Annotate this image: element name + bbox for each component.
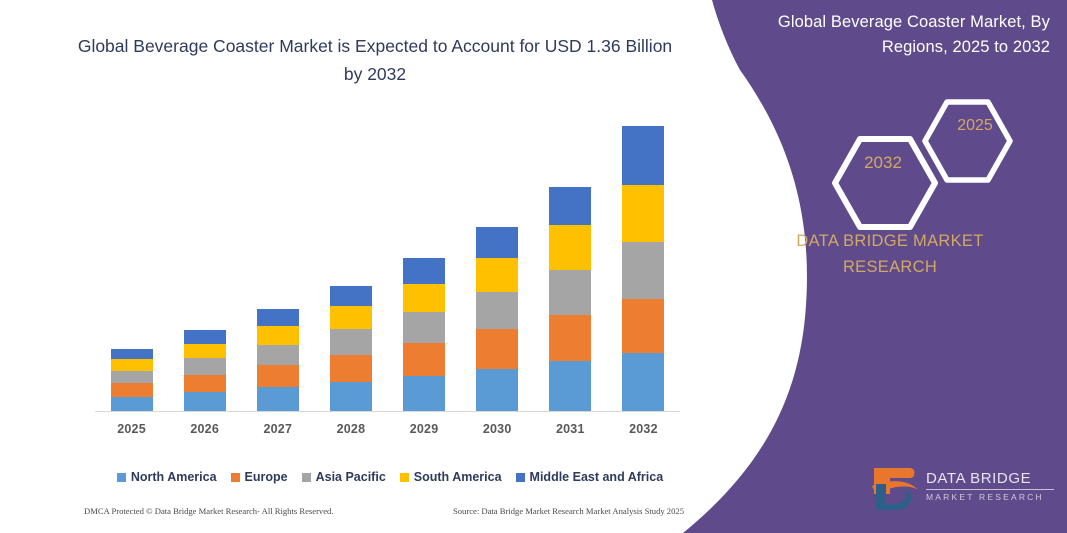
bar-segment bbox=[111, 359, 153, 370]
hexagon-2032-label: 2032 bbox=[838, 153, 928, 173]
bar-segment bbox=[184, 330, 226, 343]
stacked-bar bbox=[184, 330, 226, 411]
bar-segment bbox=[184, 358, 226, 375]
x-axis-label: 2030 bbox=[462, 422, 533, 444]
bar-segment bbox=[184, 344, 226, 359]
bar-segment bbox=[330, 382, 372, 411]
bar-segment bbox=[403, 312, 445, 343]
bar-segment bbox=[184, 392, 226, 411]
hexagon-group: 2032 2025 bbox=[820, 95, 1060, 205]
legend-label: North America bbox=[131, 470, 217, 484]
bar-segment bbox=[257, 309, 299, 326]
x-axis-label: 2028 bbox=[315, 422, 386, 444]
chart-plot-area bbox=[95, 100, 680, 412]
legend-swatch-icon bbox=[516, 473, 525, 482]
legend-item[interactable]: Asia Pacific bbox=[302, 470, 386, 484]
stacked-bar bbox=[476, 227, 518, 412]
bar-segment bbox=[403, 258, 445, 284]
bar-segment bbox=[476, 227, 518, 258]
stacked-bar bbox=[622, 126, 664, 411]
stacked-bar bbox=[257, 309, 299, 411]
legend-label: Europe bbox=[245, 470, 288, 484]
bar-column bbox=[169, 100, 240, 411]
bar-column bbox=[608, 100, 679, 411]
x-axis-label: 2029 bbox=[389, 422, 460, 444]
stacked-bar bbox=[403, 258, 445, 411]
legend-item[interactable]: Middle East and Africa bbox=[516, 470, 664, 484]
bar-segment bbox=[330, 306, 372, 329]
x-axis-labels: 20252026202720282029203020312032 bbox=[95, 422, 680, 444]
bar-segment bbox=[257, 387, 299, 411]
bar-segment bbox=[403, 376, 445, 411]
bar-segment bbox=[257, 345, 299, 366]
bar-segment bbox=[257, 365, 299, 387]
footer-copyright: DMCA Protected © Data Bridge Market Rese… bbox=[84, 506, 334, 516]
stacked-bar bbox=[330, 286, 372, 411]
bar-segment bbox=[549, 361, 591, 411]
bar-segment bbox=[622, 299, 664, 353]
bar-segment bbox=[330, 329, 372, 355]
bar-segment bbox=[549, 315, 591, 362]
logo-sub-text: MARKET RESEARCH bbox=[926, 492, 1066, 503]
bar-segment bbox=[476, 329, 518, 368]
data-bridge-b-logo-icon bbox=[870, 464, 922, 514]
bar-segment bbox=[403, 284, 445, 312]
x-axis-label: 2032 bbox=[608, 422, 679, 444]
x-axis-line bbox=[95, 411, 680, 412]
bar-segment bbox=[549, 187, 591, 225]
bar-segment bbox=[111, 349, 153, 359]
infographic-root: Global Beverage Coaster Market, By Regio… bbox=[0, 0, 1067, 533]
chart-legend: North AmericaEuropeAsia PacificSouth Ame… bbox=[95, 470, 685, 484]
hexagon-2025-icon bbox=[920, 97, 1015, 185]
footer: DMCA Protected © Data Bridge Market Rese… bbox=[84, 506, 684, 516]
bar-column bbox=[535, 100, 606, 411]
bar-column bbox=[389, 100, 460, 411]
bar-segment bbox=[111, 371, 153, 383]
x-axis-label: 2025 bbox=[96, 422, 167, 444]
legend-swatch-icon bbox=[302, 473, 311, 482]
bar-segment bbox=[476, 258, 518, 292]
legend-item[interactable]: Europe bbox=[231, 470, 288, 484]
bar-segment bbox=[622, 242, 664, 299]
bar-segment bbox=[403, 343, 445, 376]
bar-segment bbox=[549, 270, 591, 315]
chart-title: Global Beverage Coaster Market is Expect… bbox=[70, 32, 680, 88]
bar-column bbox=[96, 100, 167, 411]
bar-column bbox=[462, 100, 533, 411]
company-logo: DATA BRIDGE MARKET RESEARCH bbox=[870, 462, 1067, 518]
footer-source: Source: Data Bridge Market Research Mark… bbox=[453, 506, 684, 516]
brand-line-2: RESEARCH bbox=[750, 254, 1030, 280]
bar-group bbox=[95, 100, 680, 411]
bar-segment bbox=[111, 397, 153, 412]
legend-label: Middle East and Africa bbox=[530, 470, 664, 484]
bar-segment bbox=[184, 375, 226, 393]
legend-item[interactable]: North America bbox=[117, 470, 217, 484]
brand-name: DATA BRIDGE MARKET RESEARCH bbox=[750, 228, 1030, 280]
bar-segment bbox=[476, 369, 518, 412]
bar-segment bbox=[476, 292, 518, 329]
bar-column bbox=[242, 100, 313, 411]
panel-title: Global Beverage Coaster Market, By Regio… bbox=[750, 10, 1050, 60]
hexagon-2025-label: 2025 bbox=[935, 117, 1015, 135]
x-axis-label: 2026 bbox=[169, 422, 240, 444]
x-axis-label: 2031 bbox=[535, 422, 606, 444]
logo-main-text: DATA BRIDGE bbox=[926, 470, 1066, 487]
bar-segment bbox=[622, 126, 664, 185]
panel-content: Global Beverage Coaster Market, By Regio… bbox=[750, 0, 1067, 533]
legend-item[interactable]: South America bbox=[400, 470, 502, 484]
bar-segment bbox=[330, 286, 372, 307]
legend-swatch-icon bbox=[400, 473, 409, 482]
bar-segment bbox=[622, 353, 664, 411]
x-axis-label: 2027 bbox=[242, 422, 313, 444]
legend-label: Asia Pacific bbox=[316, 470, 386, 484]
legend-label: South America bbox=[414, 470, 502, 484]
bar-segment bbox=[330, 355, 372, 382]
brand-line-1: DATA BRIDGE MARKET bbox=[750, 228, 1030, 254]
legend-swatch-icon bbox=[231, 473, 240, 482]
bar-segment bbox=[622, 185, 664, 242]
bar-column bbox=[315, 100, 386, 411]
logo-divider bbox=[926, 489, 1054, 490]
stacked-bar bbox=[111, 349, 153, 411]
bar-segment bbox=[549, 225, 591, 270]
bar-segment bbox=[111, 383, 153, 396]
legend-swatch-icon bbox=[117, 473, 126, 482]
stacked-bar bbox=[549, 187, 591, 411]
bar-segment bbox=[257, 326, 299, 345]
logo-text-block: DATA BRIDGE MARKET RESEARCH bbox=[926, 470, 1066, 503]
